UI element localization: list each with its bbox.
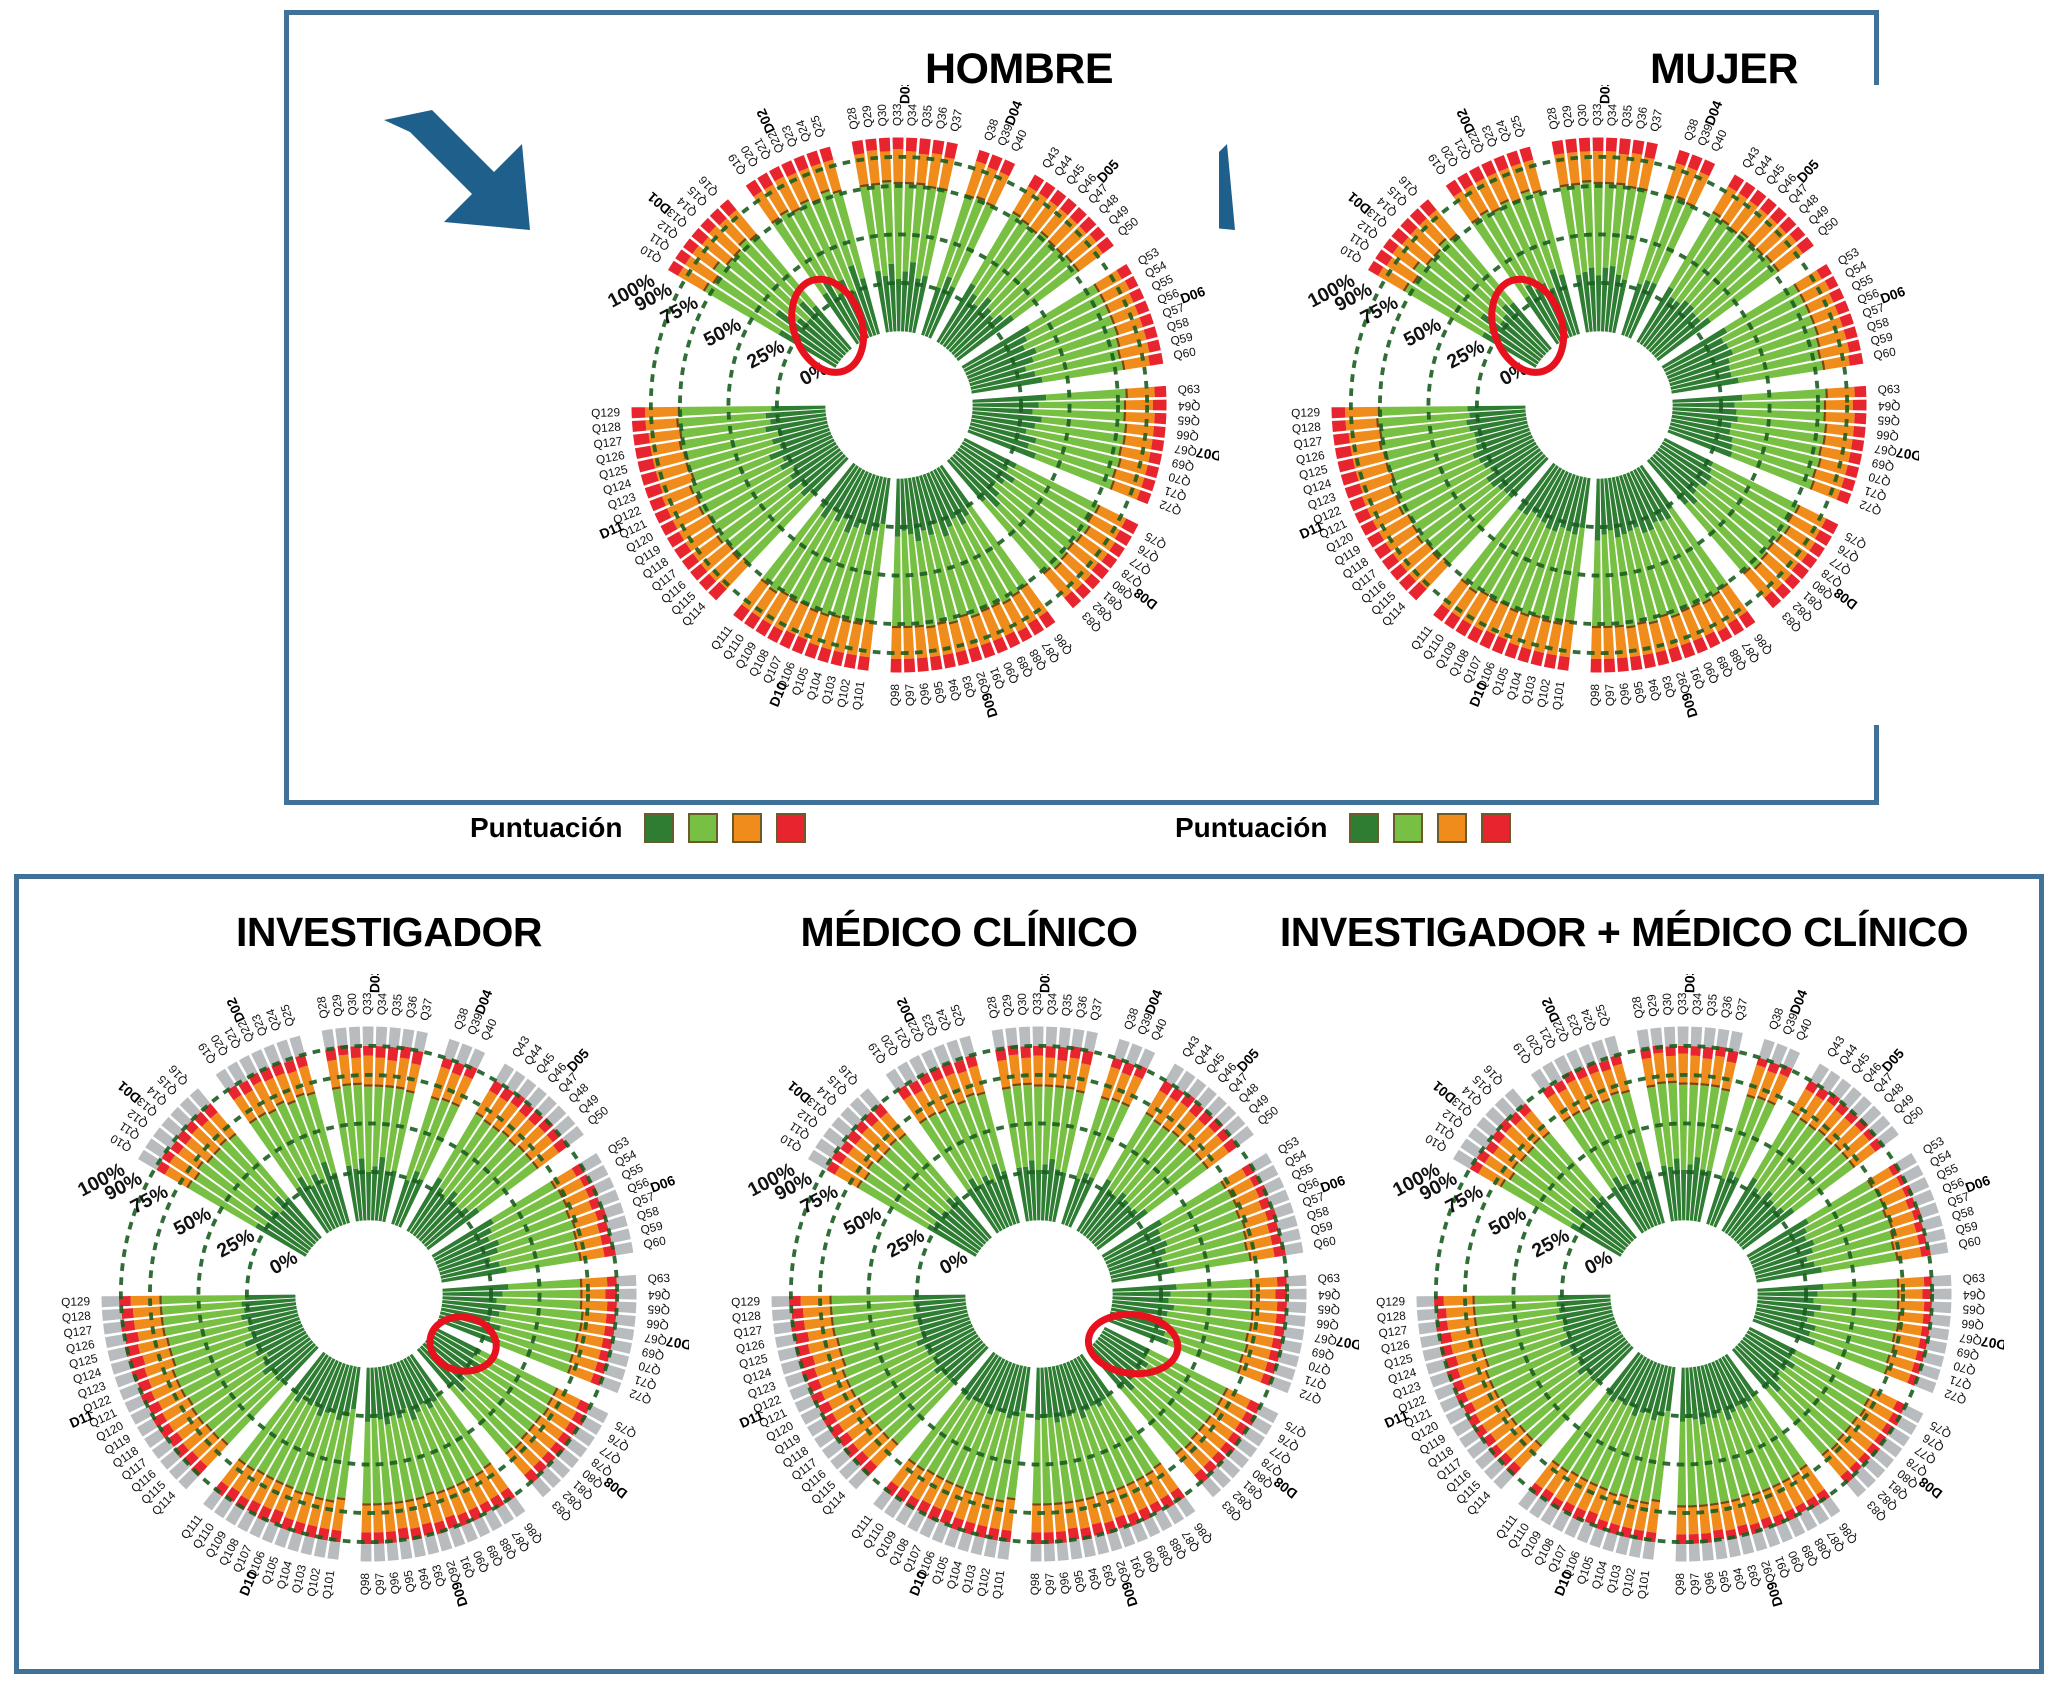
svg-text:Q64: Q64 [648,1288,671,1302]
svg-text:Q63: Q63 [1177,382,1200,397]
svg-text:Q34: Q34 [904,103,919,126]
svg-text:Q63: Q63 [647,1271,670,1286]
legend-swatch-naranja [1437,813,1467,843]
svg-text:Q128: Q128 [731,1309,761,1325]
svg-text:Q64: Q64 [1963,1288,1986,1302]
legend-swatch-rojo [1481,813,1511,843]
svg-text:D03: D03 [1682,974,1698,993]
svg-text:Q97: Q97 [372,1573,387,1596]
svg-text:Q35: Q35 [1059,993,1075,1017]
legend-swatch-rojo [776,813,806,843]
radial-chart-medico[interactable]: Q10Q11Q12Q13Q14Q15Q16Q19Q20Q21Q22Q23Q24Q… [719,974,1359,1614]
svg-text:D03: D03 [1597,85,1613,104]
svg-text:Q35: Q35 [1619,104,1635,128]
svg-text:Q129: Q129 [731,1294,761,1309]
svg-text:Q129: Q129 [591,405,621,420]
svg-text:Q29: Q29 [329,993,345,1017]
svg-text:Q128: Q128 [1291,420,1321,436]
svg-text:Q65: Q65 [647,1302,670,1317]
bottom-comparison-panel: INVESTIGADOR MÉDICO CLÍNICO INVESTIGADOR… [14,874,2044,1674]
svg-text:Q98: Q98 [1028,1573,1042,1596]
svg-text:Q96: Q96 [387,1571,403,1595]
svg-text:Q129: Q129 [1376,1294,1406,1309]
svg-text:Q30: Q30 [345,992,360,1016]
svg-text:Q64: Q64 [1178,399,1201,413]
legend-swatch-verde-claro [1393,813,1423,843]
svg-text:Q66: Q66 [1315,1316,1339,1332]
svg-text:Q98: Q98 [888,684,902,707]
svg-text:Q128: Q128 [591,420,621,436]
svg-text:Q34: Q34 [1604,103,1619,126]
top-comparison-panel: HOMBRE MUJER Q10Q11Q12Q13Q14Q15Q16Q19Q20… [284,10,1879,805]
svg-text:Q97: Q97 [1687,1573,1702,1596]
radial-chart-hombre[interactable]: Q10Q11Q12Q13Q14Q15Q16Q19Q20Q21Q22Q23Q24Q… [579,85,1219,725]
svg-text:Q97: Q97 [1042,1573,1057,1596]
radial-chart-investigador-medico[interactable]: Q10Q11Q12Q13Q14Q15Q16Q19Q20Q21Q22Q23Q24Q… [1364,974,2004,1614]
svg-text:Q129: Q129 [1291,405,1321,420]
svg-text:Q96: Q96 [917,682,933,706]
svg-text:Q66: Q66 [1960,1316,1984,1332]
svg-text:Q64: Q64 [1878,399,1901,413]
svg-text:Q129: Q129 [61,1294,91,1309]
svg-text:Q96: Q96 [1617,682,1633,706]
svg-text:Q33: Q33 [890,103,904,126]
legend-swatch-naranja [732,813,762,843]
svg-text:Q34: Q34 [1689,992,1704,1015]
svg-text:Q65: Q65 [1877,413,1900,428]
svg-text:Q128: Q128 [1376,1309,1406,1325]
svg-text:Q35: Q35 [1704,993,1720,1017]
chart-title-investigador: INVESTIGADOR [179,909,599,956]
svg-text:D03: D03 [1037,974,1053,993]
svg-text:Q29: Q29 [859,104,875,128]
pointer-arrow-hombre [374,100,544,250]
svg-text:Q33: Q33 [360,992,374,1015]
svg-text:Q128: Q128 [61,1309,91,1325]
svg-text:Q97: Q97 [1602,684,1617,707]
chart-title-investigador-medico: INVESTIGADOR + MÉDICO CLÍNICO [1264,909,1984,956]
svg-text:Q35: Q35 [919,104,935,128]
svg-text:Q29: Q29 [1644,993,1660,1017]
svg-text:Q63: Q63 [1317,1271,1340,1286]
svg-text:Q98: Q98 [358,1573,372,1596]
svg-text:Q97: Q97 [902,684,917,707]
legend-swatch-verde-claro [688,813,718,843]
radial-chart-mujer[interactable]: Q10Q11Q12Q13Q14Q15Q16Q19Q20Q21Q22Q23Q24Q… [1279,85,1919,725]
svg-text:Q34: Q34 [374,992,389,1015]
svg-text:Q65: Q65 [1177,413,1200,428]
svg-text:Q96: Q96 [1702,1571,1718,1595]
legend-swatch-verde-oscuro [1349,813,1379,843]
svg-text:Q29: Q29 [999,993,1015,1017]
svg-text:Q35: Q35 [389,993,405,1017]
svg-text:Q30: Q30 [875,103,890,127]
legend-label: Puntuación [1175,812,1327,844]
svg-text:Q29: Q29 [1559,104,1575,128]
svg-text:Q30: Q30 [1660,992,1675,1016]
legend-label: Puntuación [470,812,622,844]
svg-text:D03: D03 [367,974,383,993]
svg-text:Q33: Q33 [1675,992,1689,1015]
legend-hombre: Puntuación [470,812,806,844]
svg-text:Q66: Q66 [1875,427,1899,443]
svg-text:Q34: Q34 [1044,992,1059,1015]
chart-title-medico: MÉDICO CLÍNICO [759,909,1179,956]
radial-chart-investigador[interactable]: Q10Q11Q12Q13Q14Q15Q16Q19Q20Q21Q22Q23Q24Q… [49,974,689,1614]
legend-mujer: Puntuación [1175,812,1511,844]
svg-text:Q98: Q98 [1588,684,1602,707]
svg-text:Q98: Q98 [1673,1573,1687,1596]
svg-text:Q65: Q65 [1317,1302,1340,1317]
svg-text:Q65: Q65 [1962,1302,1985,1317]
svg-text:Q30: Q30 [1015,992,1030,1016]
svg-text:D03: D03 [897,85,913,104]
svg-text:Q66: Q66 [1175,427,1199,443]
svg-text:Q33: Q33 [1590,103,1604,126]
svg-text:Q66: Q66 [645,1316,669,1332]
svg-text:Q63: Q63 [1877,382,1900,397]
svg-text:Q96: Q96 [1057,1571,1073,1595]
svg-text:Q30: Q30 [1575,103,1590,127]
legend-swatch-verde-oscuro [644,813,674,843]
svg-text:Q33: Q33 [1030,992,1044,1015]
svg-text:Q63: Q63 [1962,1271,1985,1286]
svg-text:Q64: Q64 [1318,1288,1341,1302]
